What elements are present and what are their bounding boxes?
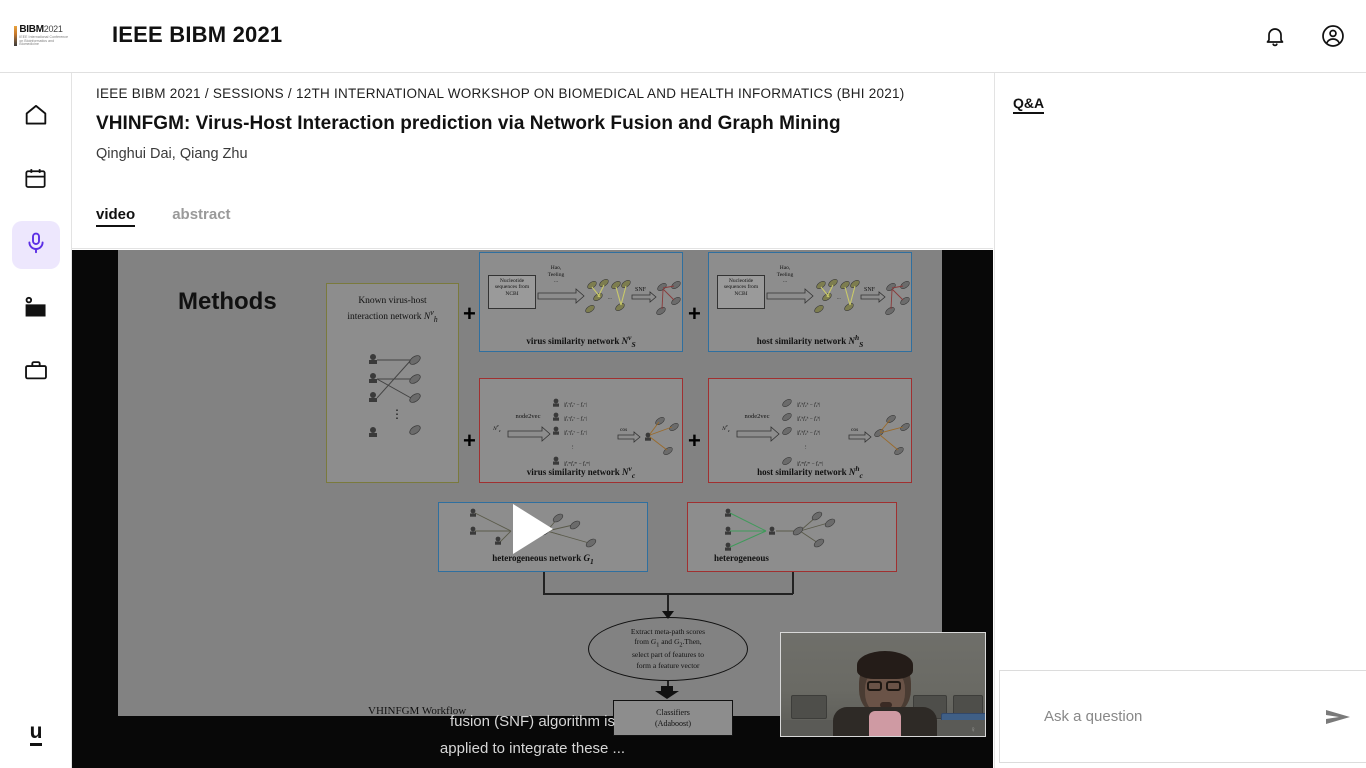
svg-text:|f₁ᵛf₂ᵛ − f₂ᵛ|: |f₁ᵛf₂ᵛ − f₂ᵛ| xyxy=(564,415,587,422)
tab-abstract[interactable]: abstract xyxy=(172,206,230,225)
breadcrumb-separator-2: / xyxy=(288,86,292,101)
qa-input-container[interactable] xyxy=(999,670,1366,763)
svg-text:...: ... xyxy=(608,296,612,301)
tabs-divider xyxy=(72,248,993,249)
svg-text:⋮: ⋮ xyxy=(570,445,575,451)
svg-text:cos: cos xyxy=(851,427,858,433)
slide-block-host-similarity-s: Nucleotide sequences from NCBI Hao,Teeli… xyxy=(708,252,912,352)
extract-metapath-text: Extract meta-path scoresfrom G1 and G2.T… xyxy=(631,627,705,670)
connector-left-vertical xyxy=(543,572,545,594)
webcam-glasses-left xyxy=(867,681,882,691)
heterogeneous-figure-2 xyxy=(688,505,898,555)
svg-text:...: ... xyxy=(837,296,841,301)
slide-block-virus-similarity-c: Nvc node2vec |f₁ᵛf₂ᵛ − f₂ᵛ| |f₁ᵛf₂ᵛ − f₂… xyxy=(479,378,683,483)
caption-line-2: applied to integrate these ... xyxy=(72,735,993,762)
video-player[interactable]: Methods Known virus-hostinteraction netw… xyxy=(72,250,993,768)
home-icon xyxy=(23,102,49,133)
paper-title: VHINFGM: Virus-Host Interaction predicti… xyxy=(96,113,841,135)
svg-text:⋮: ⋮ xyxy=(803,445,808,451)
slide-block-known-interaction: Known virus-hostinteraction network Nvh xyxy=(326,283,459,483)
slide-block-heterogeneous-g2-label: heterogeneous xyxy=(688,553,896,563)
logo-year-text: 2021 xyxy=(44,24,63,34)
account-circle-icon[interactable] xyxy=(1318,21,1348,51)
webcam-hair xyxy=(857,651,913,679)
microphone-icon xyxy=(24,231,48,260)
svg-text:SNF: SNF xyxy=(635,287,647,293)
slide-plus-symbol-3: + xyxy=(688,303,701,325)
sidebar-item-calendar[interactable] xyxy=(12,157,60,205)
connector-down-to-ellipse xyxy=(667,593,669,613)
notifications-bell-icon[interactable] xyxy=(1260,21,1290,51)
bibm-logo[interactable]: BIBM2021 IEEE International Conference o… xyxy=(14,24,70,48)
slide-block-host-similarity-c-label: host similarity network Nhc xyxy=(709,464,911,480)
breadcrumb-current[interactable]: 12TH INTERNATIONAL WORKSHOP ON BIOMEDICA… xyxy=(296,86,905,101)
svg-text:cos: cos xyxy=(620,427,627,433)
left-sidebar: u xyxy=(0,73,72,768)
connector-right-vertical xyxy=(792,572,794,594)
page-title: IEEE BIBM 2021 xyxy=(112,22,282,48)
breadcrumb-root[interactable]: IEEE BIBM 2021 xyxy=(96,86,201,101)
caption-line-1: fusion (SNF) algorithm is xyxy=(72,708,993,735)
underline-u-logo: u xyxy=(30,722,43,746)
svg-text:|f₁ᵛf₂ᵛ − f₂ᵛ|: |f₁ᵛf₂ᵛ − f₂ᵛ| xyxy=(564,429,587,436)
breadcrumb-section[interactable]: SESSIONS xyxy=(213,86,284,101)
tab-qa[interactable]: Q&A xyxy=(1013,95,1044,114)
extract-metapath-ellipse: Extract meta-path scoresfrom G1 and G2.T… xyxy=(588,617,748,681)
calendar-icon xyxy=(23,166,48,196)
slide-block-host-similarity-c: Nvc node2vec |f₁ʰf₂ʰ − f₂ʰ| |f₁ʰf₂ʰ − f₂… xyxy=(708,378,912,483)
sidebar-item-sessions[interactable] xyxy=(12,221,60,269)
slide-plus-symbol-1: + xyxy=(463,303,476,325)
presentation-slide: Methods Known virus-hostinteraction netw… xyxy=(118,250,942,716)
svg-text:|f₁ʰf₂ʰ − f₂ʰ|: |f₁ʰf₂ʰ − f₂ʰ| xyxy=(797,429,820,436)
send-icon[interactable] xyxy=(1310,707,1366,727)
slide-block-virus-similarity-s: Nucleotide sequences from NCBI Hao,Teeli… xyxy=(479,252,683,352)
video-caption: fusion (SNF) algorithm is applied to int… xyxy=(72,708,993,762)
slide-plus-symbol-2: + xyxy=(463,430,476,452)
sidebar-item-expo[interactable] xyxy=(12,349,60,397)
main-content: IEEE BIBM 2021 / SESSIONS / 12TH INTERNA… xyxy=(72,73,993,768)
briefcase-icon xyxy=(23,358,49,389)
sidebar-brand-logo[interactable]: u xyxy=(0,722,72,746)
slide-block-virus-similarity-c-label: virus similarity network Nvc xyxy=(480,464,682,480)
svg-text:⋮: ⋮ xyxy=(391,407,403,421)
breadcrumb: IEEE BIBM 2021 / SESSIONS / 12TH INTERNA… xyxy=(96,86,905,101)
slide-heading: Methods xyxy=(178,288,277,316)
sidebar-item-home[interactable] xyxy=(12,93,60,141)
logo-main-text: BIBM xyxy=(19,24,43,35)
slide-block-virus-similarity-s-label: virus similarity network NvS xyxy=(480,333,682,349)
ask-question-input[interactable] xyxy=(1000,708,1310,725)
paper-authors: Qinghui Dai, Qiang Zhu xyxy=(96,146,248,162)
image-icon xyxy=(23,294,49,325)
webcam-glasses-right xyxy=(886,681,901,691)
breadcrumb-separator-1: / xyxy=(205,86,209,101)
svg-text:|f₁ʰf₂ʰ − f₂ʰ|: |f₁ʰf₂ʰ − f₂ʰ| xyxy=(797,401,820,408)
tab-video[interactable]: video xyxy=(96,206,135,227)
sidebar-item-posters[interactable] xyxy=(12,285,60,333)
logo-subtitle: IEEE International Conference on Bioinfo… xyxy=(19,36,70,46)
logo-color-bar xyxy=(14,26,17,46)
slide-block-heterogeneous-g1-label: heterogeneous network G1 xyxy=(439,553,647,566)
slide-block-host-similarity-s-label: host similarity network NhS xyxy=(709,333,911,349)
arrow-head-down-2 xyxy=(655,686,681,700)
play-button[interactable] xyxy=(513,504,553,554)
svg-text:SNF: SNF xyxy=(864,287,876,293)
content-tabs: video abstract xyxy=(96,206,231,227)
bipartite-graph-figure: ⋮ xyxy=(327,346,460,456)
slide-block-heterogeneous-g2: heterogeneous xyxy=(687,502,897,572)
svg-text:|f₁ʰf₂ʰ − f₂ʰ|: |f₁ʰf₂ʰ − f₂ʰ| xyxy=(797,415,820,422)
svg-text:|f₁ᵛf₂ᵛ − f₂ᵛ|: |f₁ᵛf₂ᵛ − f₂ᵛ| xyxy=(564,401,587,408)
slide-plus-symbol-4: + xyxy=(688,430,701,452)
app-header: BIBM2021 IEEE International Conference o… xyxy=(0,0,1366,73)
slide-block-known-interaction-label: Known virus-hostinteraction network Nvh xyxy=(327,296,458,325)
qa-message-list xyxy=(995,133,1366,665)
qa-panel: Q&A xyxy=(994,73,1366,768)
